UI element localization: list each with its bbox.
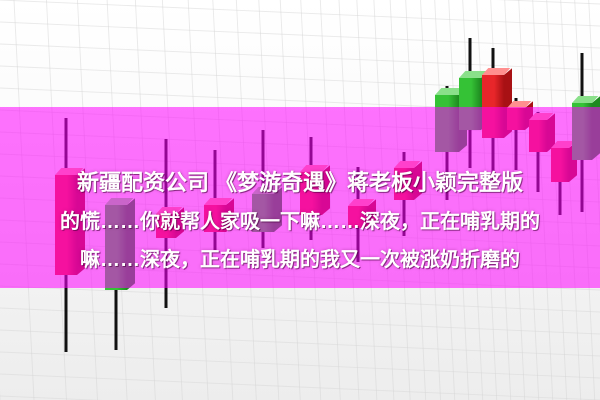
overlay-text-line-2: 的慌……你就帮人家吸一下嘛……深夜，正在哺乳期的 [0, 205, 600, 234]
overlay-text-line-3: 嘛……深夜，正在哺乳期的我又一次被涨奶折磨的 [0, 243, 600, 272]
chart-screenshot: 新疆配资公司 《梦游奇遇》蒋老板小颖完整版 的慌……你就帮人家吸一下嘛……深夜，… [0, 0, 600, 400]
overlay-text-line-1: 新疆配资公司 《梦游奇遇》蒋老板小颖完整版 [0, 165, 600, 197]
